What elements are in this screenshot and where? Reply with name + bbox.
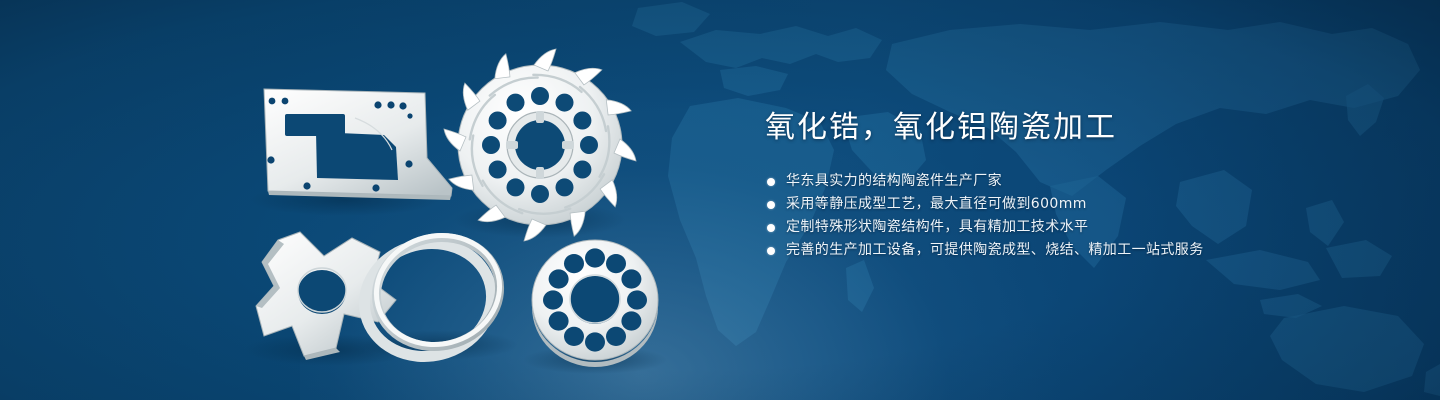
bullet-dot-icon [767, 247, 775, 255]
bullet-dot-icon [767, 224, 775, 232]
feature-text: 完善的生产加工设备，可提供陶瓷成型、烧结、精加工一站式服务 [786, 239, 1204, 262]
feature-text: 定制特殊形状陶瓷结构件，具有精加工技术水平 [786, 216, 1088, 239]
banner-copy: 氧化锆，氧化铝陶瓷加工 华东具实力的结构陶瓷件生产厂家 采用等静压成型工艺，最大… [765, 108, 1385, 262]
banner-headline: 氧化锆，氧化铝陶瓷加工 [765, 108, 1385, 148]
feature-item: 采用等静压成型工艺，最大直径可做到600mm [767, 193, 1385, 216]
bullet-dot-icon [767, 201, 775, 209]
feature-text: 华东具实力的结构陶瓷件生产厂家 [786, 170, 1002, 193]
promo-banner: 氧化锆，氧化铝陶瓷加工 华东具实力的结构陶瓷件生产厂家 采用等静压成型工艺，最大… [0, 0, 1440, 400]
feature-text: 采用等静压成型工艺，最大直径可做到600mm [786, 193, 1087, 216]
feature-list: 华东具实力的结构陶瓷件生产厂家 采用等静压成型工艺，最大直径可做到600mm 定… [765, 170, 1385, 262]
feature-item: 华东具实力的结构陶瓷件生产厂家 [767, 170, 1385, 193]
feature-item: 定制特殊形状陶瓷结构件，具有精加工技术水平 [767, 216, 1385, 239]
feature-item: 完善的生产加工设备，可提供陶瓷成型、烧结、精加工一站式服务 [767, 239, 1385, 262]
bullet-dot-icon [767, 178, 775, 186]
